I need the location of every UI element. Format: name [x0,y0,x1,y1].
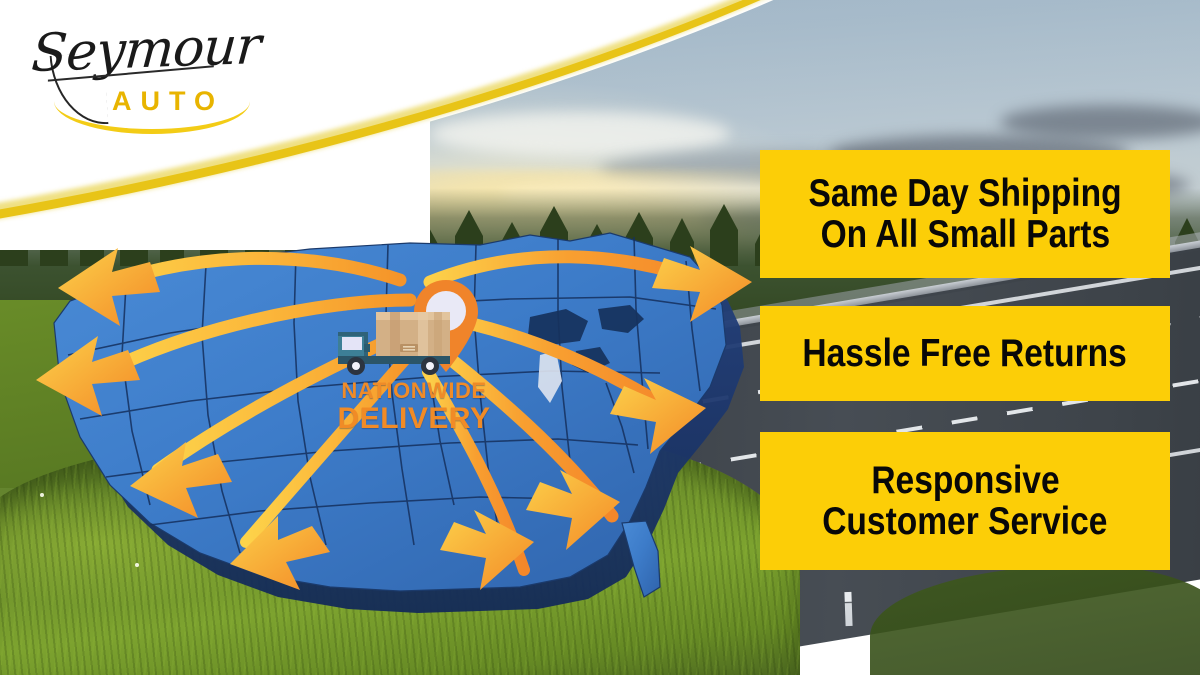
badge-line-1: NATIONWIDE [334,378,494,404]
logo-subtitle: AUTO [112,86,224,117]
nationwide-delivery-badge: NATIONWIDE DELIVERY [330,278,500,453]
callout-hassle-free-returns[interactable]: Hassle Free Returns [760,306,1170,401]
callout-line: Responsive [871,460,1059,501]
callout-line: Customer Service [822,501,1107,542]
badge-line-2: DELIVERY [334,402,494,436]
logo-wordmark: Seymour [30,16,263,84]
callout-line: On All Small Parts [820,214,1110,255]
callout-same-day-shipping[interactable]: Same Day Shipping On All Small Parts [760,150,1170,278]
callout-line: Same Day Shipping [808,173,1121,214]
marketing-banner: Seymour AUTO [0,0,1200,675]
callout-line: Hassle Free Returns [803,333,1127,374]
callout-responsive-customer-service[interactable]: Responsive Customer Service [760,432,1170,570]
brand-logo[interactable]: Seymour AUTO [24,14,254,124]
delivery-truck-icon [334,306,464,376]
